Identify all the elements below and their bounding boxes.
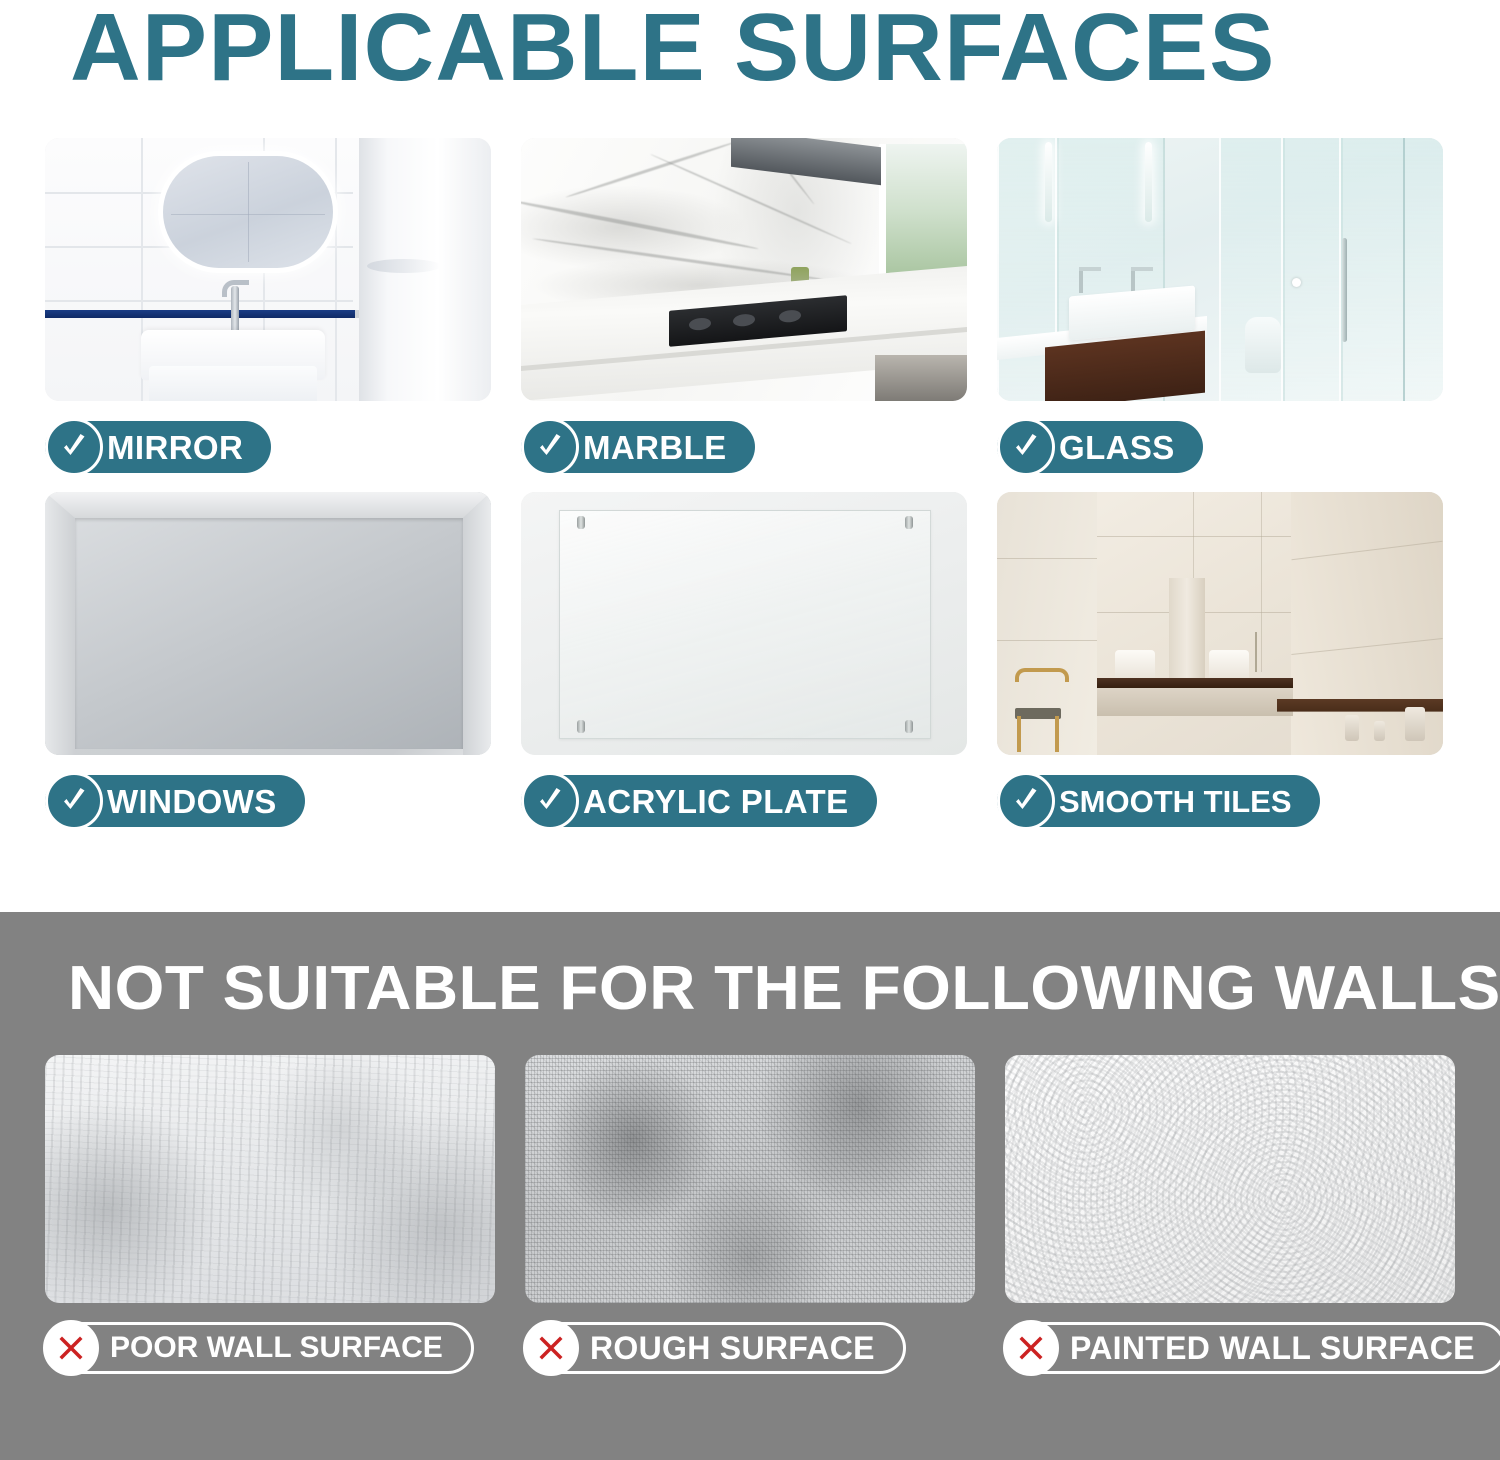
- window-pane-photo: [45, 492, 491, 755]
- marble-kitchen-photo: [521, 138, 967, 401]
- check-icon: [45, 418, 103, 476]
- applicable-card-marble: MARBLE: [521, 138, 967, 476]
- check-icon: [521, 418, 579, 476]
- check-icon: [997, 418, 1055, 476]
- pill-label: SMOOTH TILES: [1059, 786, 1292, 817]
- check-icon: [45, 772, 103, 830]
- applicable-card-glass: GLASS: [997, 138, 1443, 476]
- applicable-row-2: WINDOWS: [45, 492, 1445, 830]
- pill-label: MARBLE: [583, 431, 727, 464]
- applicable-card-windows: WINDOWS: [45, 492, 491, 830]
- glass-bathroom-photo: [997, 138, 1443, 401]
- not-suitable-card-poor-wall: POOR WALL SURFACE: [45, 1055, 495, 1377]
- applicable-card-smooth-tiles: SMOOTH TILES: [997, 492, 1443, 830]
- bathroom-mirror-photo: [45, 138, 491, 401]
- poor-wall-texture: [45, 1055, 495, 1303]
- not-suitable-grid: POOR WALL SURFACE ROUGH SURFACE: [45, 1055, 1455, 1377]
- not-suitable-section: NOT SUITABLE FOR THE FOLLOWING WALLS POO…: [0, 912, 1500, 1460]
- check-icon: [997, 772, 1055, 830]
- xpill-label: ROUGH SURFACE: [590, 1332, 875, 1364]
- painted-wall-texture: [1005, 1055, 1455, 1303]
- label-pill-glass: GLASS: [997, 418, 1443, 476]
- applicable-surfaces-grid: MIRROR: [45, 138, 1445, 830]
- label-pill-windows: WINDOWS: [45, 772, 491, 830]
- x-mark-icon: [43, 1320, 99, 1376]
- applicable-card-mirror: MIRROR: [45, 138, 491, 476]
- applicable-row-1: MIRROR: [45, 138, 1445, 476]
- label-pill-painted-wall: PAINTED WALL SURFACE: [1005, 1319, 1455, 1377]
- pill-label: ACRYLIC PLATE: [583, 785, 849, 818]
- pill-label: GLASS: [1059, 431, 1175, 464]
- applicable-card-acrylic: ACRYLIC PLATE: [521, 492, 967, 830]
- smooth-tiles-bathroom-photo: [997, 492, 1443, 755]
- applicable-surfaces-section: APPLICABLE SURFACES: [0, 0, 1500, 912]
- not-suitable-card-rough-surface: ROUGH SURFACE: [525, 1055, 975, 1377]
- not-suitable-card-painted-wall: PAINTED WALL SURFACE: [1005, 1055, 1455, 1377]
- rough-surface-texture: [525, 1055, 975, 1303]
- acrylic-plate-photo: [521, 492, 967, 755]
- label-pill-rough-surface: ROUGH SURFACE: [525, 1319, 975, 1377]
- label-pill-mirror: MIRROR: [45, 418, 491, 476]
- page-title: APPLICABLE SURFACES: [70, 0, 1478, 102]
- xpill-label: POOR WALL SURFACE: [110, 1333, 443, 1363]
- label-pill-marble: MARBLE: [521, 418, 967, 476]
- x-mark-icon: [1003, 1320, 1059, 1376]
- not-suitable-title: NOT SUITABLE FOR THE FOLLOWING WALLS: [68, 954, 1500, 1024]
- xpill-label: PAINTED WALL SURFACE: [1070, 1332, 1475, 1364]
- pill-label: MIRROR: [107, 431, 243, 464]
- x-mark-icon: [523, 1320, 579, 1376]
- pill-label: WINDOWS: [107, 785, 277, 818]
- check-icon: [521, 772, 579, 830]
- label-pill-poor-wall: POOR WALL SURFACE: [45, 1319, 495, 1377]
- label-pill-acrylic: ACRYLIC PLATE: [521, 772, 967, 830]
- label-pill-smooth-tiles: SMOOTH TILES: [997, 772, 1443, 830]
